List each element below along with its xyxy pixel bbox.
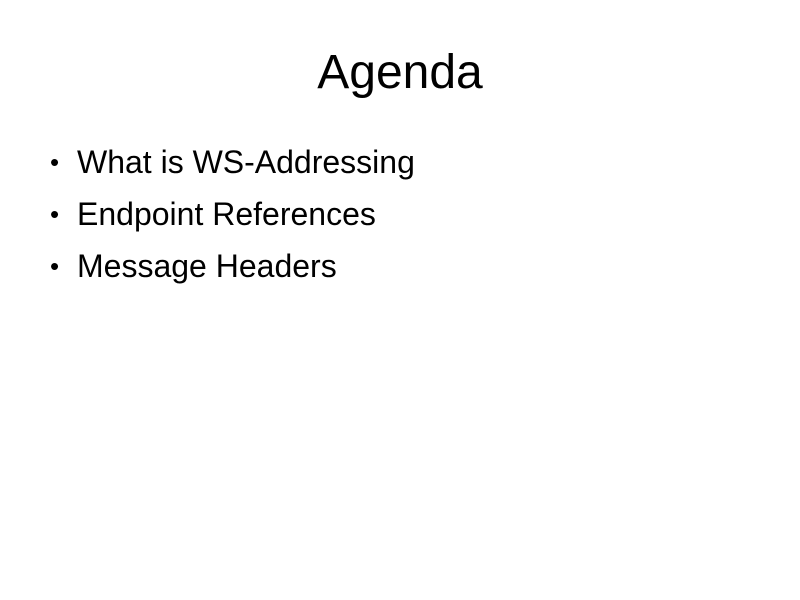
list-item: • What is WS-Addressing	[44, 140, 756, 192]
bullet-dot-icon: •	[50, 244, 66, 288]
list-item-label: Endpoint References	[77, 192, 376, 236]
page-title: Agenda	[0, 44, 800, 102]
bullet-dot-icon: •	[50, 192, 66, 236]
agenda-bullet-list: • What is WS-Addressing • Endpoint Refer…	[44, 140, 756, 296]
list-item-label: What is WS-Addressing	[77, 140, 415, 184]
list-item: • Message Headers	[44, 244, 756, 296]
bullet-dot-icon: •	[50, 140, 66, 184]
presentation-slide: Agenda • What is WS-Addressing • Endpoin…	[0, 0, 800, 600]
list-item: • Endpoint References	[44, 192, 756, 244]
list-item-label: Message Headers	[77, 244, 337, 288]
